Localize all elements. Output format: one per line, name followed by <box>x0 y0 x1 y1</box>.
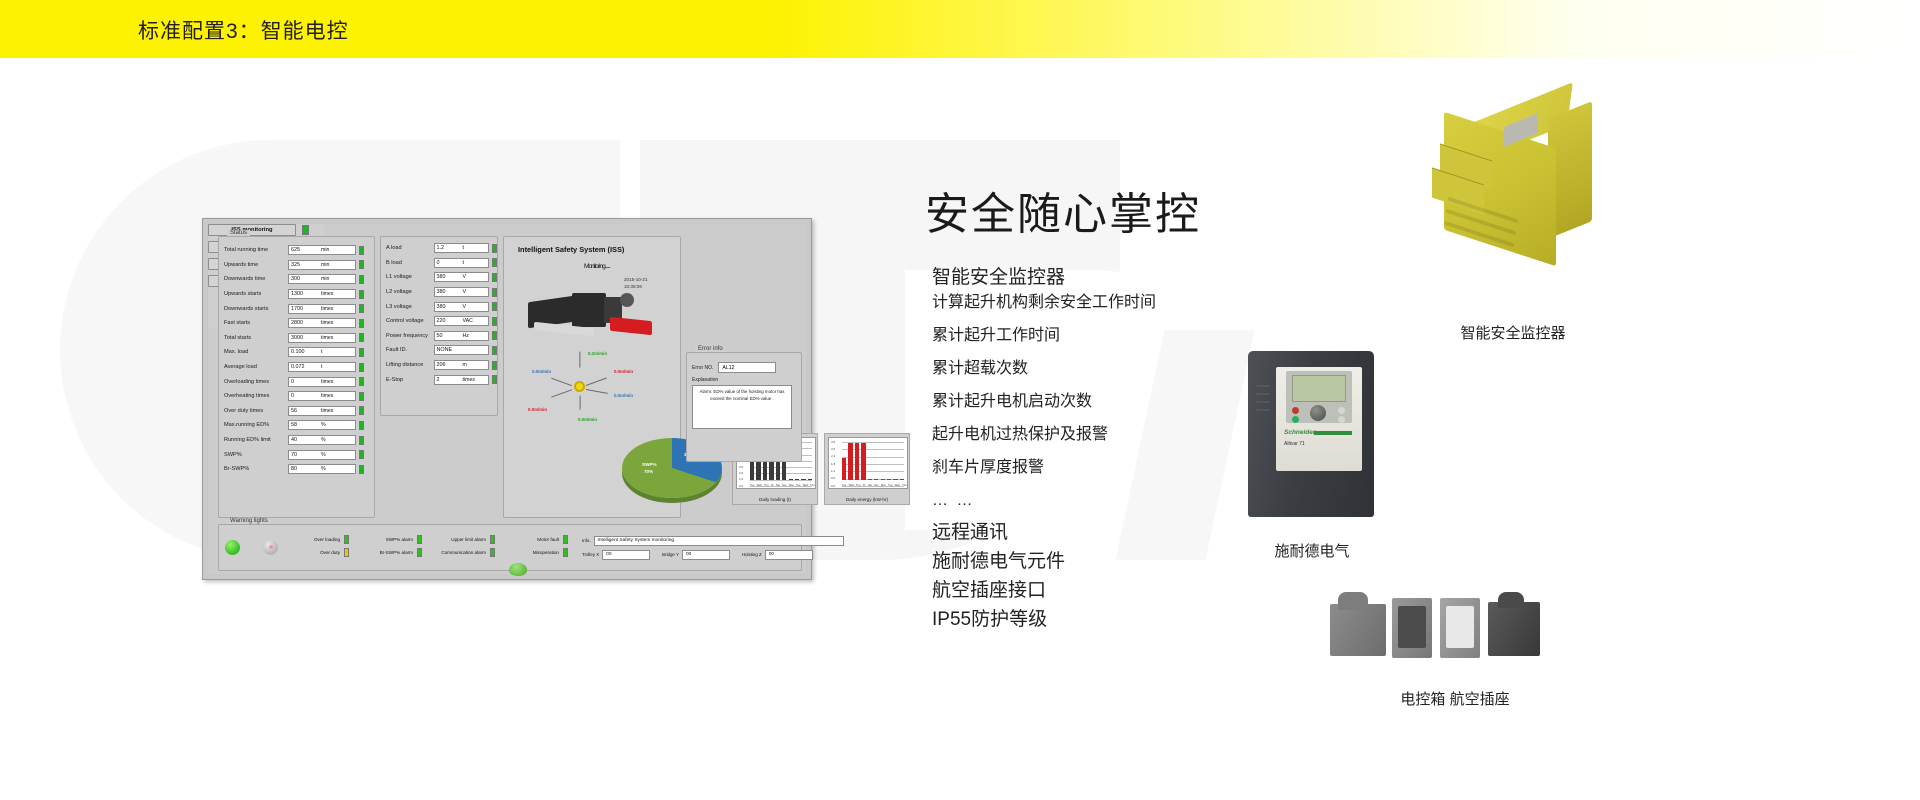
x-tick-label: Tue <box>796 484 800 487</box>
iss-subtitle-dots: ...... <box>605 263 610 270</box>
row-unit: times <box>463 377 475 383</box>
axis-label: Trolley X <box>582 552 599 557</box>
row-number: 380 <box>437 289 446 295</box>
indicator-label: Over duty <box>290 550 344 555</box>
row-led <box>492 361 497 370</box>
indicator-item: Communication alarm <box>436 548 495 557</box>
connectors-caption: 电控箱 航空插座 <box>1300 688 1610 709</box>
axis-value[interactable]: 00 <box>602 550 650 560</box>
indicator-column: Motor faultMisoperation <box>509 535 568 561</box>
row-value[interactable]: 625min <box>288 245 356 255</box>
row-led <box>359 333 364 342</box>
row-unit: % <box>321 422 326 428</box>
bar <box>900 479 904 480</box>
x-tick-label: Thu <box>764 484 768 487</box>
row-unit: V <box>463 274 466 280</box>
speed-label: 0.0m/min <box>614 393 633 398</box>
row-unit: V <box>463 304 466 310</box>
row-led <box>359 421 364 430</box>
direction-arrow <box>579 396 580 410</box>
x-tick-label: Fri <box>771 484 774 487</box>
iss-date: 2015-10-21 <box>624 277 648 282</box>
x-tick-label: Thu <box>902 484 906 487</box>
data-row: Fault ID.NONE <box>381 343 497 358</box>
data-row: A load1.2t <box>381 241 497 256</box>
axis-value[interactable]: 00 <box>765 550 813 560</box>
row-label: Over duty times <box>224 408 288 414</box>
indicator-led <box>344 535 349 544</box>
direction-arrow <box>579 352 580 368</box>
bar <box>861 443 865 480</box>
row-led <box>492 302 497 311</box>
x-tick-group: TueWedThuFriSatSunMonTueWedThu <box>750 484 812 487</box>
axis-label: Hoisting Z <box>742 552 762 557</box>
x-tick-group: TueWedThuFriSatSunMonTueWedThu <box>842 484 904 487</box>
x-tick-label: Sun <box>782 484 787 487</box>
indicator-label: Upper limit alarm <box>436 537 490 542</box>
direction-arrow <box>551 378 572 387</box>
data-row: L2 voltage380V <box>381 285 497 300</box>
vfd-model: Altivar 71 <box>1284 441 1305 447</box>
feature-item: IP55防护等级 <box>932 610 1352 629</box>
y-tick-label: 0.0 <box>831 484 835 488</box>
x-tick-label: Sat <box>868 484 872 487</box>
indicator-item: Br-SWP% alarm <box>363 548 422 557</box>
header-bar: 标准配置3：智能电控 <box>0 0 1920 58</box>
indicator-led <box>490 548 495 557</box>
x-tick-label: Sat <box>776 484 780 487</box>
row-value[interactable]: 1.2t <box>434 243 490 253</box>
axis-item: Bridge Y00 <box>662 550 730 560</box>
row-label: Upwards starts <box>224 291 288 297</box>
row-unit: t <box>463 260 464 266</box>
row-led <box>359 436 364 445</box>
row-unit: % <box>321 452 326 458</box>
indicator-label: Motor fault <box>509 537 563 542</box>
x-tick-label: Wed <box>757 484 762 487</box>
row-led <box>359 392 364 401</box>
row-label: Fault ID. <box>386 347 434 353</box>
lamp-group <box>225 540 278 555</box>
button-led <box>302 225 309 235</box>
y-tick-label: 3.6 <box>831 440 835 444</box>
row-unit: t <box>321 349 322 355</box>
row-value[interactable]: 0t <box>434 258 490 268</box>
row-value[interactable]: 2800times <box>288 318 356 328</box>
error-explanation-text: Alarm: ED% value of the hoisting motor h… <box>692 385 792 429</box>
speed-label: 0.0m/min <box>528 407 547 412</box>
row-unit: V <box>463 289 466 295</box>
row-unit: Hz <box>463 333 469 339</box>
status-rows: Total running time625minUpwards time325m… <box>219 243 374 477</box>
axis-item: Hoisting Z00 <box>742 550 813 560</box>
data-row: SWP%70% <box>219 447 374 462</box>
row-label: Max. load <box>224 349 288 355</box>
data-row: Overheating times0times <box>219 389 374 404</box>
row-number: 0.072 <box>291 364 305 370</box>
indicator-led <box>563 548 568 557</box>
indicator-item: Over loading <box>290 535 349 544</box>
row-unit: t <box>321 364 322 370</box>
row-number: 1700 <box>291 306 303 312</box>
bar <box>848 443 852 480</box>
bar <box>808 479 812 480</box>
data-row: Max.running ED%58% <box>219 418 374 433</box>
row-led <box>359 450 364 459</box>
row-value[interactable]: 58% <box>288 420 356 430</box>
row-led <box>492 258 497 267</box>
row-value[interactable]: 380V <box>434 287 490 297</box>
pie-label-swp-value: 70% <box>644 469 653 474</box>
row-led <box>359 465 364 474</box>
row-number: 40 <box>291 437 297 443</box>
row-number: 3000 <box>291 335 303 341</box>
aviation-connectors-image <box>1330 590 1580 680</box>
indicator-column: Upper limit alarmCommunication alarm <box>436 535 495 561</box>
bar <box>887 479 891 480</box>
speed-vector-diagram: 0.2m/min0.0m/min0.0m/min0.0m/min0.0m/min… <box>514 347 674 427</box>
y-tick-label: 3.0 <box>831 447 835 451</box>
row-led <box>492 375 497 384</box>
row-unit: min <box>321 276 329 282</box>
row-number: 0 <box>437 260 440 266</box>
daily-energy-chart: 3.63.02.41.81.20.60.0TueWedThuFriSatSunM… <box>824 433 910 505</box>
row-led <box>492 288 497 297</box>
row-label: L1 voltage <box>386 274 434 280</box>
y-tick-label: 1.8 <box>831 462 835 466</box>
iss-subtitle: Monitoring...... <box>584 263 610 270</box>
y-tick-label: 0.0 <box>739 484 743 488</box>
hmi-inner: Status Total running time625minUpwards t… <box>208 224 806 574</box>
iss-title: Intelligent Safety System (ISS) <box>518 245 624 254</box>
x-tick-label: Wed <box>849 484 854 487</box>
row-led <box>492 244 497 253</box>
row-unit: m <box>463 362 467 368</box>
row-number: 625 <box>291 247 300 253</box>
row-label: Lifting distance <box>386 362 434 368</box>
hook-icon <box>574 381 585 392</box>
bar <box>893 479 897 480</box>
data-row: Over duty times56times <box>219 404 374 419</box>
indicator-item: Over duty <box>290 548 349 557</box>
data-row: Upwards starts1300times <box>219 287 374 302</box>
indicator-led <box>417 535 422 544</box>
row-number: 0 <box>291 393 294 399</box>
row-unit: times <box>321 379 333 385</box>
row-label: B load <box>386 260 434 266</box>
safety-relay-caption: 智能安全监控器 <box>1378 322 1648 343</box>
row-label: Br-SWP% <box>224 466 288 472</box>
monitoring-panel: Intelligent Safety System (ISS) Monitori… <box>503 236 681 518</box>
info-value[interactable]: Intelligent Safety System monitoring <box>594 536 844 546</box>
row-number: 0.100 <box>291 349 305 355</box>
row-unit: times <box>321 408 333 414</box>
bar <box>874 479 878 480</box>
row-led <box>492 273 497 282</box>
warning-lamp-green <box>225 540 240 555</box>
speed-label: 0.0m/min <box>532 369 551 374</box>
hmi-button[interactable]: ISS monitoring <box>208 224 296 236</box>
data-row: B load0t <box>381 256 497 271</box>
data-row: Power frequency50Hz <box>381 329 497 344</box>
feature-item: 计算起升机构剩余安全工作时间 <box>932 295 1352 311</box>
row-unit: % <box>321 437 326 443</box>
row-unit: min <box>321 262 329 268</box>
axis-row: Trolley X00Bridge Y00Hoisting Z00 <box>582 550 844 560</box>
chart-caption: Daily energy (kW-hr) <box>825 497 909 502</box>
row-label: Max.running ED% <box>224 422 288 428</box>
row-led <box>359 246 364 255</box>
y-tick-label: 2.4 <box>831 454 835 458</box>
row-number: 58 <box>291 422 297 428</box>
jog-knob[interactable] <box>509 563 527 576</box>
row-value[interactable]: 380V <box>434 272 490 282</box>
axis-label: Bridge Y <box>662 552 679 557</box>
row-number: 1300 <box>291 291 303 297</box>
indicator-item: Upper limit alarm <box>436 535 495 544</box>
row-led <box>492 331 497 340</box>
x-tick-label: Mon <box>881 484 886 487</box>
bar <box>842 458 846 480</box>
data-row: Total starts3000times <box>219 331 374 346</box>
row-value[interactable]: 1700times <box>288 304 356 314</box>
indicator-led <box>344 548 349 557</box>
hero-title: 安全随心掌控 <box>925 178 1201 242</box>
x-tick-label: Wed <box>895 484 900 487</box>
row-led <box>359 304 364 313</box>
axis-value[interactable]: 00 <box>682 550 730 560</box>
row-number: NONE <box>437 347 453 353</box>
data-row: Br-SWP%80% <box>219 462 374 477</box>
row-led <box>359 260 364 269</box>
indicator-item: SWP% alarm <box>363 535 422 544</box>
row-value[interactable]: 325min <box>288 260 356 270</box>
row-value[interactable]: 2times <box>434 375 490 385</box>
row-label: Control voltage <box>386 318 434 324</box>
electrical-panel: A load1.2tB load0tL1 voltage380VL2 volta… <box>380 236 498 416</box>
row-number: 50 <box>437 333 443 339</box>
bar <box>855 443 859 480</box>
row-number: 1.2 <box>437 245 445 251</box>
warning-lamp-amber <box>244 540 259 555</box>
data-row: L1 voltage380V <box>381 270 497 285</box>
direction-arrow <box>586 389 608 394</box>
row-led <box>359 406 364 415</box>
row-label: Total starts <box>224 335 288 341</box>
row-value[interactable]: 40% <box>288 435 356 445</box>
row-unit: t <box>463 245 464 251</box>
data-row: L3 voltage380V <box>381 299 497 314</box>
row-led <box>492 317 497 326</box>
indicator-label: Misoperation <box>509 550 563 555</box>
row-number: 380 <box>437 274 446 280</box>
row-value[interactable]: 56times <box>288 406 356 416</box>
bar <box>881 479 885 480</box>
iss-subtitle-text: Monitoring <box>584 263 605 270</box>
page-title: 标准配置3：智能电控 <box>138 15 349 45</box>
status-panel: Status Total running time625minUpwards t… <box>218 236 375 518</box>
indicator-label: Communication alarm <box>436 550 490 555</box>
row-led <box>359 348 364 357</box>
error-explanation-label: Explanation <box>692 377 801 383</box>
row-number: 2 <box>437 377 440 383</box>
bar-group <box>842 442 904 480</box>
warning-legend: Warning lights <box>227 518 271 524</box>
y-tick-label: 1.0 <box>739 477 743 481</box>
row-label: SWP% <box>224 452 288 458</box>
indicator-led <box>490 535 495 544</box>
row-number: 2800 <box>291 320 303 326</box>
chart-plot: 3.63.02.41.81.20.60.0TueWedThuFriSatSunM… <box>828 437 908 489</box>
data-row: Upwards time325min <box>219 258 374 273</box>
indicator-led <box>563 535 568 544</box>
data-row: E-Stop2times <box>381 372 497 387</box>
row-label: Fast starts <box>224 320 288 326</box>
warning-lamp-red <box>263 540 278 555</box>
row-value[interactable]: NONE <box>434 345 490 355</box>
bar <box>795 479 799 480</box>
row-label: E-Stop <box>386 377 434 383</box>
bar <box>801 479 805 480</box>
row-value[interactable]: 3000times <box>288 333 356 343</box>
schneider-brand: Schneider <box>1284 429 1315 436</box>
speed-label: 0.0m/min <box>578 417 597 422</box>
row-number: 300 <box>291 276 300 282</box>
row-label: Running ED% limit <box>224 437 288 443</box>
row-led <box>359 377 364 386</box>
x-tick-label: Mon <box>789 484 794 487</box>
row-unit: % <box>321 466 326 472</box>
x-tick-label: Wed <box>803 484 808 487</box>
error-no-label: Error NO. <box>692 365 713 371</box>
indicator-label: Over loading <box>290 537 344 542</box>
row-value[interactable]: 50Hz <box>434 331 490 341</box>
error-info-panel: Error info Error NO. AL12 Explanation Al… <box>686 352 802 462</box>
row-led <box>359 319 364 328</box>
row-unit: times <box>321 335 333 341</box>
row-label: Downwards starts <box>224 306 288 312</box>
row-label: Total running time <box>224 247 288 253</box>
chart-caption: Daily loading (t) <box>733 497 817 502</box>
row-led <box>492 346 497 355</box>
row-value[interactable]: 220VAC <box>434 316 490 326</box>
bar <box>789 479 793 480</box>
feature-item: 累计起升工作时间 <box>932 328 1352 344</box>
row-number: 80 <box>291 466 297 472</box>
pie-label-swp: SWP% <box>642 462 657 467</box>
row-label: Power frequency <box>386 333 434 339</box>
row-label: Average load <box>224 364 288 370</box>
slide-root: 标准配置3：智能电控 Status Total running time625m… <box>0 0 1920 800</box>
x-tick-label: Tue <box>842 484 846 487</box>
row-label: L2 voltage <box>386 289 434 295</box>
x-tick-label: Tue <box>888 484 892 487</box>
data-row: Downwards starts1700times <box>219 301 374 316</box>
x-tick-label: Sun <box>874 484 879 487</box>
row-value[interactable]: 0times <box>288 377 356 387</box>
y-tick-label: 0.6 <box>831 476 835 480</box>
feature-item: 航空插座接口 <box>932 581 1352 600</box>
row-value[interactable]: 380V <box>434 302 490 312</box>
row-unit: VAC <box>463 318 473 324</box>
row-label: Overheating times <box>224 393 288 399</box>
x-tick-label: Thu <box>856 484 860 487</box>
row-label: Downwards time <box>224 276 288 282</box>
row-number: 206 <box>437 362 446 368</box>
row-unit: min <box>321 247 329 253</box>
row-label: A load <box>386 245 434 251</box>
safety-relay-image <box>1418 100 1608 270</box>
hoist-photo <box>524 289 654 351</box>
data-row: Running ED% limit40% <box>219 433 374 448</box>
speed-label: 0.2m/min <box>588 351 607 356</box>
info-label: Info. <box>582 538 591 543</box>
row-value[interactable]: 1300times <box>288 289 356 299</box>
row-value[interactable]: 70% <box>288 450 356 460</box>
axis-item: Trolley X00 <box>582 550 650 560</box>
direction-arrow <box>551 389 572 398</box>
data-row: Fast starts2800times <box>219 316 374 331</box>
direction-arrow <box>586 378 607 387</box>
row-unit: times <box>321 291 333 297</box>
row-unit: times <box>321 393 333 399</box>
row-number: 380 <box>437 304 446 310</box>
hmi-screenshot: Status Total running time625minUpwards t… <box>202 218 812 580</box>
x-tick-label: Fri <box>863 484 866 487</box>
row-led <box>359 363 364 372</box>
row-label: Overloading times <box>224 379 288 385</box>
y-tick-label: 3.0 <box>739 465 743 469</box>
row-led <box>359 290 364 299</box>
feature-item: 智能安全监控器 <box>932 268 1352 287</box>
row-value[interactable]: 0times <box>288 391 356 401</box>
data-row: Overloading times0times <box>219 374 374 389</box>
error-info-legend: Error info <box>695 346 726 352</box>
indicator-label: SWP% alarm <box>363 537 417 542</box>
row-number: 220 <box>437 318 446 324</box>
data-row: Average load0.072t <box>219 360 374 375</box>
indicator-column: Over loadingOver duty <box>290 535 349 561</box>
x-tick-label: Tue <box>750 484 754 487</box>
row-label: L3 voltage <box>386 304 434 310</box>
data-row: Total running time625min <box>219 243 374 258</box>
y-tick-label: 1.2 <box>831 469 835 473</box>
electrical-rows: A load1.2tB load0tL1 voltage380VL2 volta… <box>381 241 497 387</box>
row-label: Upwards time <box>224 262 288 268</box>
status-panel-legend: Status <box>227 230 250 236</box>
row-value[interactable]: 206m <box>434 360 490 370</box>
vfd-caption: 施耐德电气 <box>1212 540 1412 561</box>
warning-lights-panel: Warning lights Over loadingOver dutySWP%… <box>218 524 802 571</box>
bar <box>868 479 872 480</box>
row-value[interactable]: 0.100t <box>288 347 356 357</box>
indicator-item: Motor fault <box>509 535 568 544</box>
row-number: 56 <box>291 408 297 414</box>
speed-label: 0.0m/min <box>614 369 633 374</box>
row-value[interactable]: 300min <box>288 274 356 284</box>
row-value[interactable]: 0.072t <box>288 362 356 372</box>
data-row: Max. load0.100t <box>219 345 374 360</box>
data-row: Downwards time300min <box>219 272 374 287</box>
row-value[interactable]: 80% <box>288 464 356 474</box>
row-unit: times <box>321 320 333 326</box>
row-number: 70 <box>291 452 297 458</box>
indicator-item: Misoperation <box>509 548 568 557</box>
data-row: Lifting distance206m <box>381 358 497 373</box>
error-no-value[interactable]: AL12 <box>718 362 776 373</box>
row-number: 0 <box>291 379 294 385</box>
indicator-group: Over loadingOver dutySWP% alarmBr-SWP% a… <box>290 535 568 561</box>
